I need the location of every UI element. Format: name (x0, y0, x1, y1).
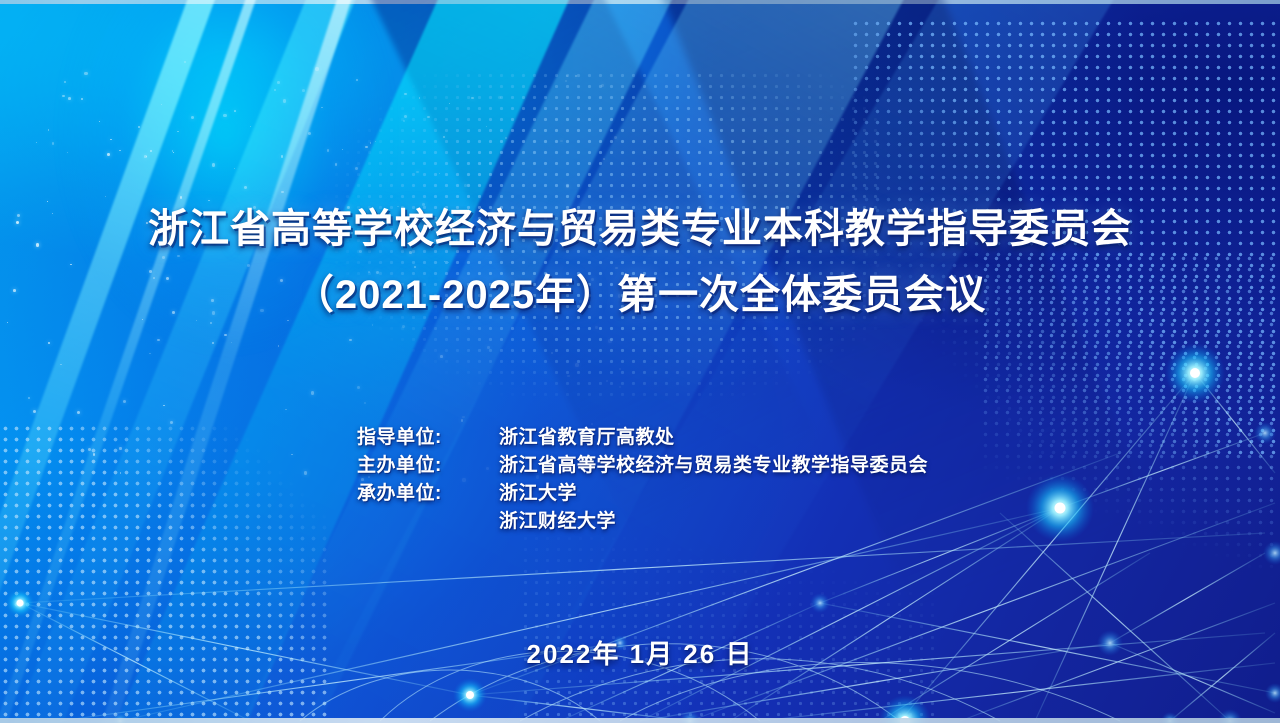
credit-value: 浙江省高等学校经济与贸易类专业教学指导委员会 (499, 452, 928, 480)
title-line-1: 浙江省高等学校经济与贸易类专业本科教学指导委员会 (0, 206, 1280, 253)
title-line-2: （2021-2025年）第一次全体委员会议 (0, 271, 1280, 320)
credit-value: 浙江大学 (499, 480, 577, 508)
credit-row: 指导单位: 浙江省教育厅高教处 (357, 424, 928, 452)
event-date: 2022年 1月 26 日 (0, 634, 1280, 671)
credit-label: 指导单位: (357, 424, 499, 452)
credit-row: 承办单位: 浙江大学 (357, 480, 928, 508)
page-title: 浙江省高等学校经济与贸易类专业本科教学指导委员会 （2021-2025年）第一次… (0, 206, 1280, 320)
credits-block: 指导单位: 浙江省教育厅高教处 主办单位: 浙江省高等学校经济与贸易类专业教学指… (357, 424, 928, 536)
credit-value: 浙江省教育厅高教处 (499, 424, 675, 452)
credit-row: 主办单位: 浙江省高等学校经济与贸易类专业教学指导委员会 (357, 452, 928, 480)
credit-value: 浙江财经大学 (499, 508, 616, 536)
credit-label (357, 508, 499, 536)
credit-label: 主办单位: (357, 452, 499, 480)
conference-title-slide: 浙江省高等学校经济与贸易类专业本科教学指导委员会 （2021-2025年）第一次… (0, 0, 1280, 723)
credit-label: 承办单位: (357, 480, 499, 508)
bottom-border-line (0, 718, 1280, 723)
credit-row: 浙江财经大学 (357, 508, 928, 536)
